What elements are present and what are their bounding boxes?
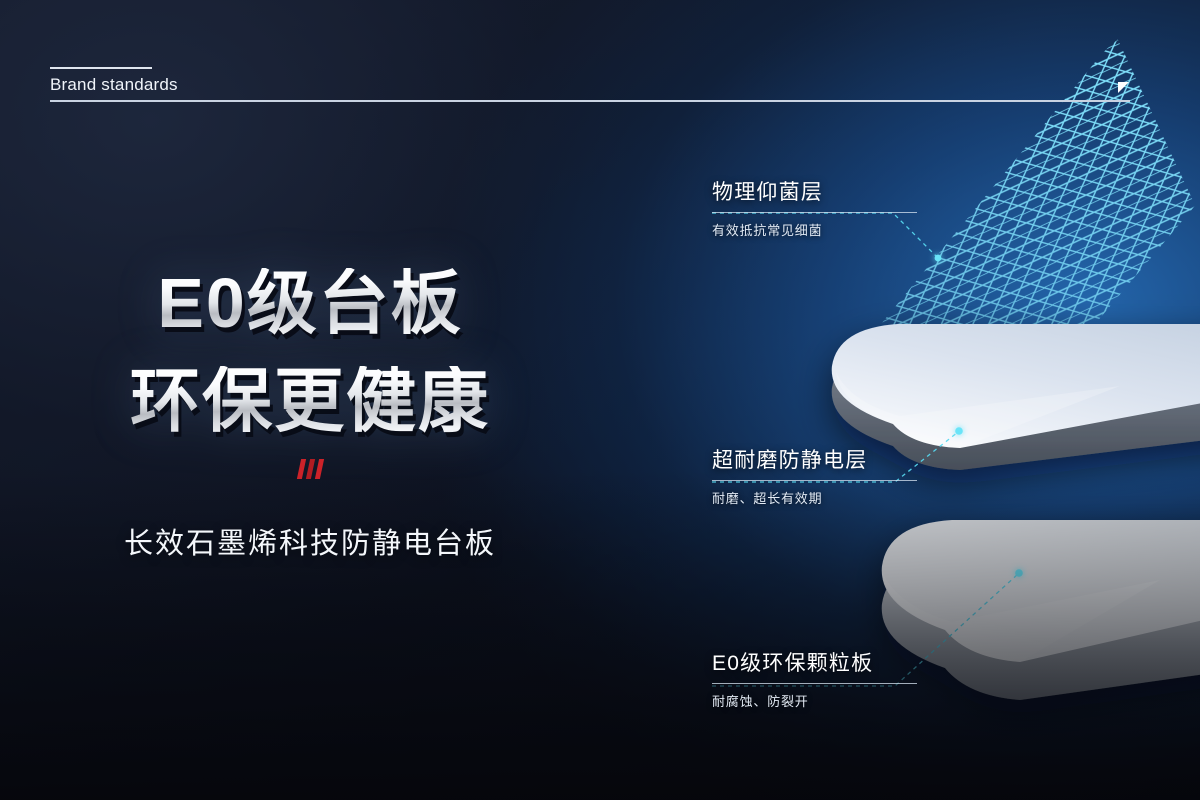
callout-title: E0级环保颗粒板	[712, 647, 917, 677]
callout-antistatic-layer: 超耐磨防静电层 耐磨、超长有效期	[712, 444, 917, 507]
callout-subtitle: 有效抵抗常见细菌	[712, 220, 917, 239]
callout-rule	[712, 212, 917, 213]
callout-subtitle: 耐磨、超长有效期	[712, 488, 917, 507]
slide-canvas: Brand standards E0级台板 环保更健康 长效石墨烯科技防静电台板…	[0, 0, 1200, 800]
callout-title: 超耐磨防静电层	[712, 444, 917, 474]
callout-rule	[712, 683, 917, 684]
callout-subtitle: 耐腐蚀、防裂开	[712, 691, 917, 710]
callout-title: 物理仰菌层	[712, 176, 917, 206]
callout-anti-bacterial-layer: 物理仰菌层 有效抵抗常见细菌	[712, 176, 917, 239]
callout-particleboard-layer: E0级环保颗粒板 耐腐蚀、防裂开	[712, 647, 917, 710]
callout-group: 物理仰菌层 有效抵抗常见细菌 超耐磨防静电层 耐磨、超长有效期 E0级环保颗粒板…	[0, 0, 1200, 800]
callout-rule	[712, 480, 917, 481]
